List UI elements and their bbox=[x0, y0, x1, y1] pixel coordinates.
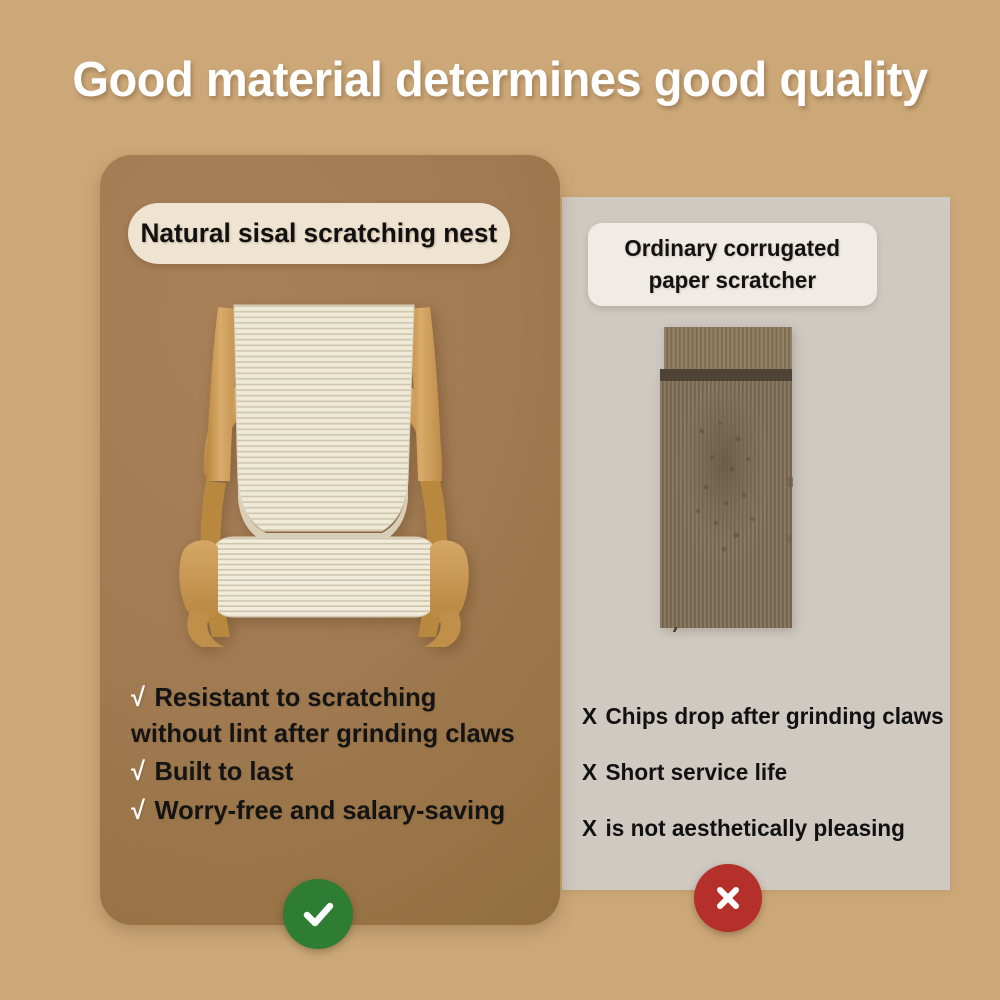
list-item-label: is not aesthetically pleasing bbox=[606, 815, 905, 842]
verdict-badge-bad bbox=[694, 864, 762, 932]
check-icon bbox=[297, 893, 339, 935]
ordinary-drawbacks-list: X Chips drop after grinding claws X Shor… bbox=[582, 703, 962, 871]
list-item-label: Resistant to scratching bbox=[155, 678, 437, 716]
cross-marker-icon: X bbox=[582, 703, 606, 730]
page-title: Good material determines good quality bbox=[20, 52, 980, 108]
cross-icon bbox=[709, 879, 747, 917]
cross-marker-icon: X bbox=[582, 815, 606, 842]
sisal-product-badge: Natural sisal scratching nest bbox=[128, 203, 510, 264]
cross-marker-icon: X bbox=[582, 759, 606, 786]
list-item: X Short service life bbox=[582, 759, 954, 786]
ordinary-product-badge-label-line2: paper scratcher bbox=[649, 266, 816, 295]
sisal-benefits-list: √ Resistant to scratching without lint a… bbox=[131, 678, 551, 829]
ordinary-product-badge-label-line1: Ordinary corrugated bbox=[625, 234, 841, 263]
list-item: without lint after grinding claws bbox=[131, 714, 543, 752]
list-item: X Chips drop after grinding claws bbox=[582, 703, 954, 730]
corrugated-paper-pad-photo bbox=[658, 327, 798, 632]
list-item: √ Resistant to scratching bbox=[131, 678, 543, 716]
list-item-label: without lint after grinding claws bbox=[131, 714, 515, 752]
list-item-label: Short service life bbox=[606, 759, 788, 786]
verdict-badge-good bbox=[283, 879, 353, 949]
check-marker-icon: √ bbox=[131, 752, 155, 790]
sisal-lounger-scratcher-photo bbox=[168, 285, 480, 647]
ordinary-product-badge: Ordinary corrugated paper scratcher bbox=[588, 223, 877, 306]
check-marker-icon: √ bbox=[131, 791, 155, 829]
check-marker-icon: √ bbox=[131, 678, 155, 716]
list-item-label: Worry-free and salary-saving bbox=[155, 791, 506, 829]
list-item: X is not aesthetically pleasing bbox=[582, 815, 954, 842]
list-item-label: Chips drop after grinding claws bbox=[606, 703, 944, 730]
infographic-canvas: Good material determines good quality Na… bbox=[0, 0, 1000, 1000]
sisal-product-badge-label: Natural sisal scratching nest bbox=[141, 218, 498, 249]
list-item: √ Worry-free and salary-saving bbox=[131, 791, 543, 829]
list-item: √ Built to last bbox=[131, 752, 543, 790]
list-item-label: Built to last bbox=[155, 752, 294, 790]
